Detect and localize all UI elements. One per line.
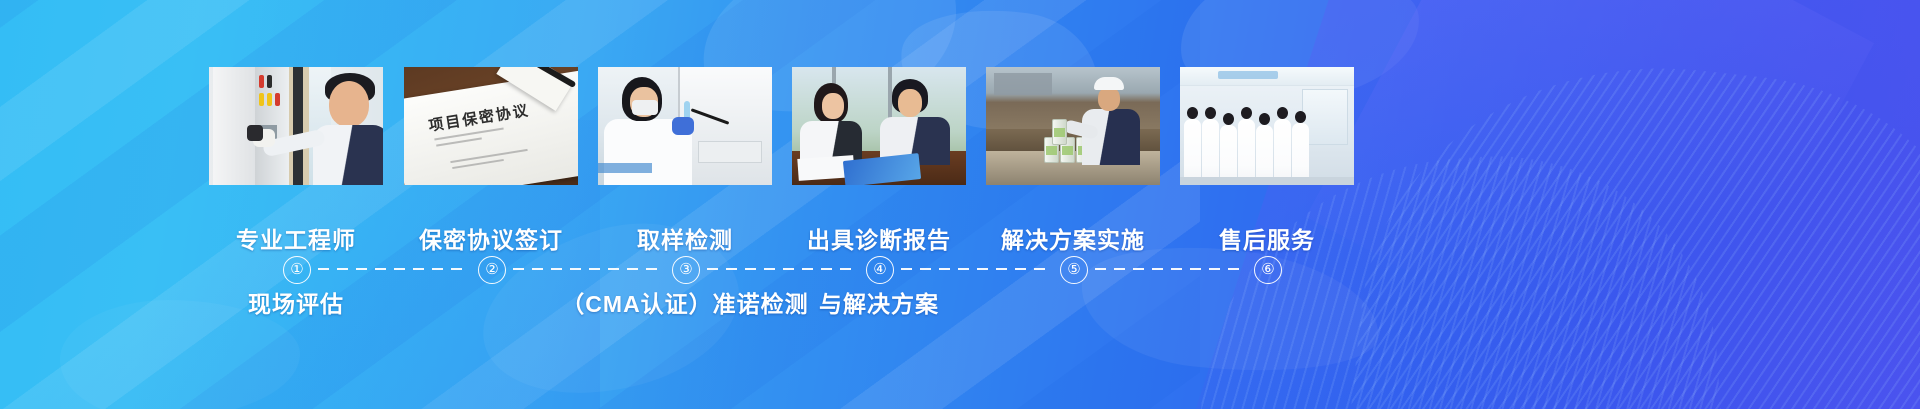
photo-scene: 项目保密协议 bbox=[404, 67, 578, 185]
process-steps: 专业工程师 现场评估 项目保密协议 保密协议签订 bbox=[0, 0, 1920, 409]
lab-sampling-test-photo bbox=[598, 67, 772, 185]
onsite-solution-implementation-photo bbox=[986, 67, 1160, 185]
timeline-node-2[interactable]: ② bbox=[478, 256, 506, 284]
timeline-connector-4-5 bbox=[901, 268, 1053, 270]
timeline-connector-2-3 bbox=[513, 268, 665, 270]
after-sales-team-photo bbox=[1180, 67, 1354, 185]
photo-scene bbox=[209, 67, 383, 185]
diagnostic-report-meeting-photo bbox=[792, 67, 966, 185]
timeline-node-5[interactable]: ⑤ bbox=[1060, 256, 1088, 284]
timeline-connector-5-6 bbox=[1095, 268, 1247, 270]
timeline-node-1[interactable]: ① bbox=[283, 256, 311, 284]
photo-scene bbox=[986, 67, 1160, 185]
service-process-banner: 专业工程师 现场评估 项目保密协议 保密协议签订 bbox=[0, 0, 1920, 409]
process-timeline: ① ② ③ ④ ⑤ ⑥ bbox=[0, 256, 1920, 296]
timeline-connector-1-2 bbox=[318, 268, 470, 270]
photo-scene bbox=[598, 67, 772, 185]
timeline-connector-3-4 bbox=[707, 268, 859, 270]
timeline-node-3[interactable]: ③ bbox=[672, 256, 700, 284]
timeline-node-4[interactable]: ④ bbox=[866, 256, 894, 284]
photo-scene bbox=[1180, 67, 1354, 185]
step-caption-line1: 售后服务 bbox=[1127, 224, 1407, 256]
timeline-node-6[interactable]: ⑥ bbox=[1254, 256, 1282, 284]
engineer-control-cabinet-photo bbox=[209, 67, 383, 185]
confidentiality-agreement-photo: 项目保密协议 bbox=[404, 67, 578, 185]
photo-scene bbox=[792, 67, 966, 185]
